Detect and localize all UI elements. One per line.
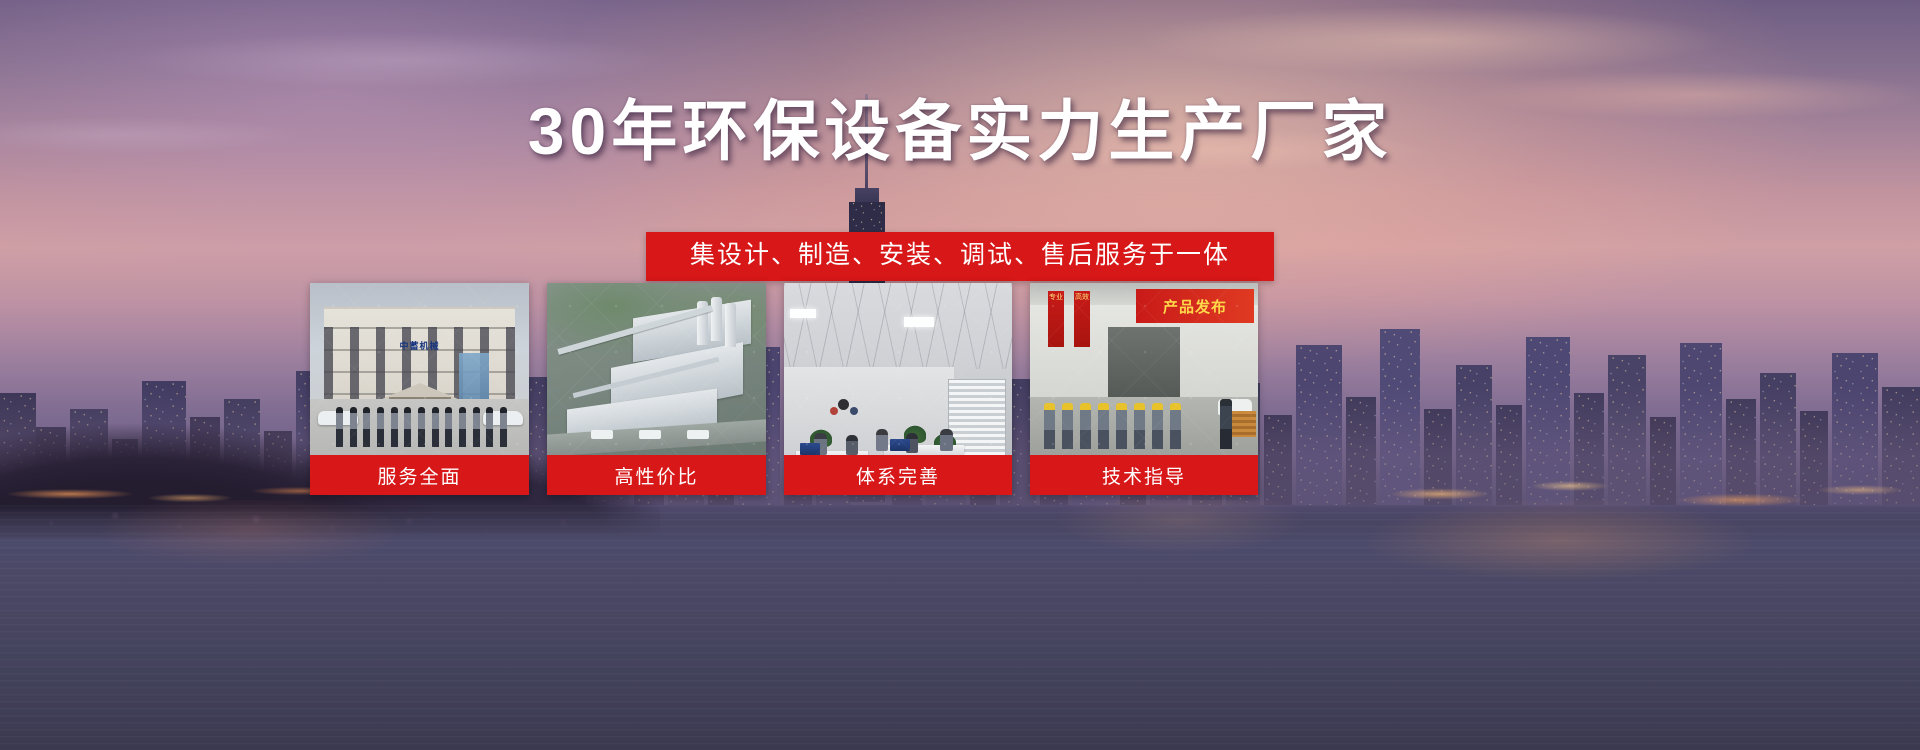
card-4-caption: 技术指导 [1030, 455, 1258, 495]
card-2-photo [547, 283, 766, 455]
feature-card-1[interactable]: 中蓄机械 服务全面 [310, 283, 529, 495]
feature-card-row: 中蓄机械 服务全面 [310, 283, 1540, 495]
card-4-vertical-banner-right: 高效 [1074, 291, 1090, 347]
card-4-red-banner-text: 产品发布 [1136, 289, 1254, 323]
card-1-logo-text: 中蓄机械 [399, 339, 439, 352]
hero-headline: 30年环保设备实力生产厂家 [0, 98, 1920, 164]
hero-subtitle-wrap: 集设计、制造、安装、调试、售后服务于一体 [0, 232, 1920, 281]
card-1-caption: 服务全面 [310, 455, 529, 495]
card-2-caption: 高性价比 [547, 455, 766, 495]
card-3-caption: 体系完善 [784, 455, 1012, 495]
feature-card-3[interactable]: 体系完善 [784, 283, 1012, 495]
hero-banner: 30年环保设备实力生产厂家 集设计、制造、安装、调试、售后服务于一体 中蓄机械 [0, 0, 1920, 750]
hero-subtitle-banner: 集设计、制造、安装、调试、售后服务于一体 [646, 232, 1274, 281]
card-4-vertical-banner-left: 专业 [1048, 291, 1064, 347]
water-light-reflections [0, 500, 1920, 630]
card-1-photo: 中蓄机械 [310, 283, 529, 455]
card-4-photo: 产品发布 专业 高效 [1030, 283, 1258, 455]
feature-card-4[interactable]: 产品发布 专业 高效 [1030, 283, 1258, 495]
feature-card-2[interactable]: 高性价比 [547, 283, 766, 495]
card-3-photo [784, 283, 1012, 455]
